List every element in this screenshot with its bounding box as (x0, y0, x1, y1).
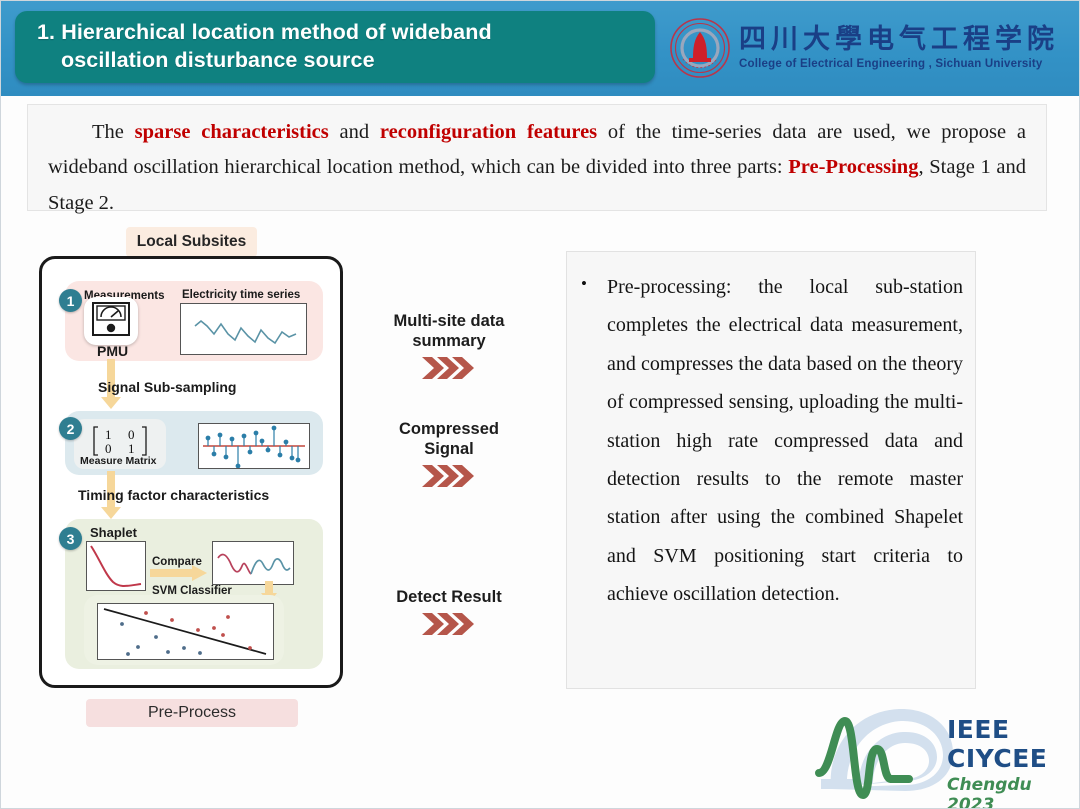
intro-paragraph: The sparse characteristics and reconfigu… (48, 115, 1026, 221)
ciycee-train-wave-icon (801, 691, 961, 803)
ciycee-name: IEEE CIYCEE (947, 715, 1073, 773)
electricity-time-series-label: Electricity time series (182, 289, 300, 301)
intro-highlight-preprocessing: Pre-Processing (788, 156, 918, 178)
flow-label-3-line1: Detect Result (396, 588, 501, 606)
explanation-row: • Pre-processing: the local sub-station … (581, 268, 963, 614)
pmu-device-icon (84, 297, 138, 345)
shaplet-label: Shaplet (90, 525, 137, 540)
svg-text:1: 1 (105, 427, 112, 442)
ieee-ciycee-logo: IEEE CIYCEE Chengdu 2023 (801, 691, 1073, 803)
flow-chevrons-1 (349, 355, 549, 381)
stage-badge-2: 2 (59, 417, 82, 440)
flow-item-compressed-signal: Compressed Signal (349, 419, 549, 489)
pmu-label: PMU (97, 343, 128, 359)
ciycee-subtitle: Chengdu 2023 (947, 775, 1073, 809)
chevron-triple-right-icon (420, 611, 478, 637)
flow-item-multi-site: Multi-site data summary (349, 311, 549, 381)
ciycee-wordmark: IEEE CIYCEE Chengdu 2023 (947, 715, 1073, 809)
stage-badge-3: 3 (59, 527, 82, 550)
signal-subsampling-label: Signal Sub-sampling (98, 379, 236, 395)
slide: 1. Hierarchical location method of wideb… (0, 0, 1080, 809)
chevron-triple-right-icon (420, 463, 478, 489)
university-name-cn: 四川大學电气工程学院 (739, 26, 1059, 54)
flow-column: Multi-site data summary Compressed Signa… (349, 301, 549, 661)
page-title-line1: 1. Hierarchical location method of wideb… (37, 20, 492, 44)
intro-text-1: The (92, 121, 135, 143)
svm-scatter-plot (97, 603, 274, 660)
flow-label-1-line2: summary (412, 332, 485, 350)
flow-item-detect-result: Detect Result (349, 587, 549, 637)
sichuan-university-seal-icon (669, 17, 731, 79)
preprocess-diagram: 1 Measurements Electricity time series P… (39, 256, 343, 688)
university-logo-words: 四川大學电气工程学院 College of Electrical Enginee… (739, 26, 1059, 70)
flow-chevrons-3 (349, 611, 549, 637)
explanation-box: • Pre-processing: the local sub-station … (566, 251, 976, 689)
flow-chevrons-2 (349, 463, 549, 489)
university-name-en: College of Electrical Engineering , Sich… (739, 58, 1059, 70)
intro-text-2: and (329, 121, 380, 143)
timing-factor-characteristics-label: Timing factor characteristics (78, 487, 269, 503)
bullet-icon: • (581, 268, 607, 614)
svg-text:0: 0 (128, 427, 135, 442)
shaplet-curve-plot (86, 541, 146, 591)
compressed-signal-stem-plot (198, 423, 310, 469)
chevron-triple-right-icon (420, 355, 478, 381)
measure-matrix-label: Measure Matrix (80, 455, 156, 467)
compare-result-plot (212, 541, 294, 585)
section-title-plate: 1. Hierarchical location method of wideb… (15, 11, 655, 83)
local-subsites-chip: Local Subsites (126, 227, 257, 257)
svg-text:0: 0 (105, 441, 112, 456)
svg-text:1: 1 (128, 441, 135, 456)
intro-paragraph-box: The sparse characteristics and reconfigu… (27, 104, 1047, 211)
compare-label: Compare (152, 556, 202, 568)
intro-highlight-sparse: sparse characteristics (135, 121, 329, 143)
flow-label-2-line2: Signal (424, 440, 474, 458)
university-logo: 四川大學电气工程学院 College of Electrical Enginee… (669, 9, 1073, 87)
page-title-line2: oscillation disturbance source (37, 47, 492, 75)
explanation-text: Pre-processing: the local sub-station co… (607, 268, 963, 614)
pre-process-chip: Pre-Process (86, 699, 298, 727)
flow-label-1-line1: Multi-site data (394, 312, 505, 330)
flow-label-2-line1: Compressed (399, 420, 499, 438)
stage-badge-1: 1 (59, 289, 82, 312)
slide-header: 1. Hierarchical location method of wideb… (1, 1, 1080, 96)
intro-highlight-reconfiguration: reconfiguration features (380, 121, 597, 143)
electricity-time-series-plot (180, 303, 307, 355)
page-title: 1. Hierarchical location method of wideb… (15, 19, 504, 74)
